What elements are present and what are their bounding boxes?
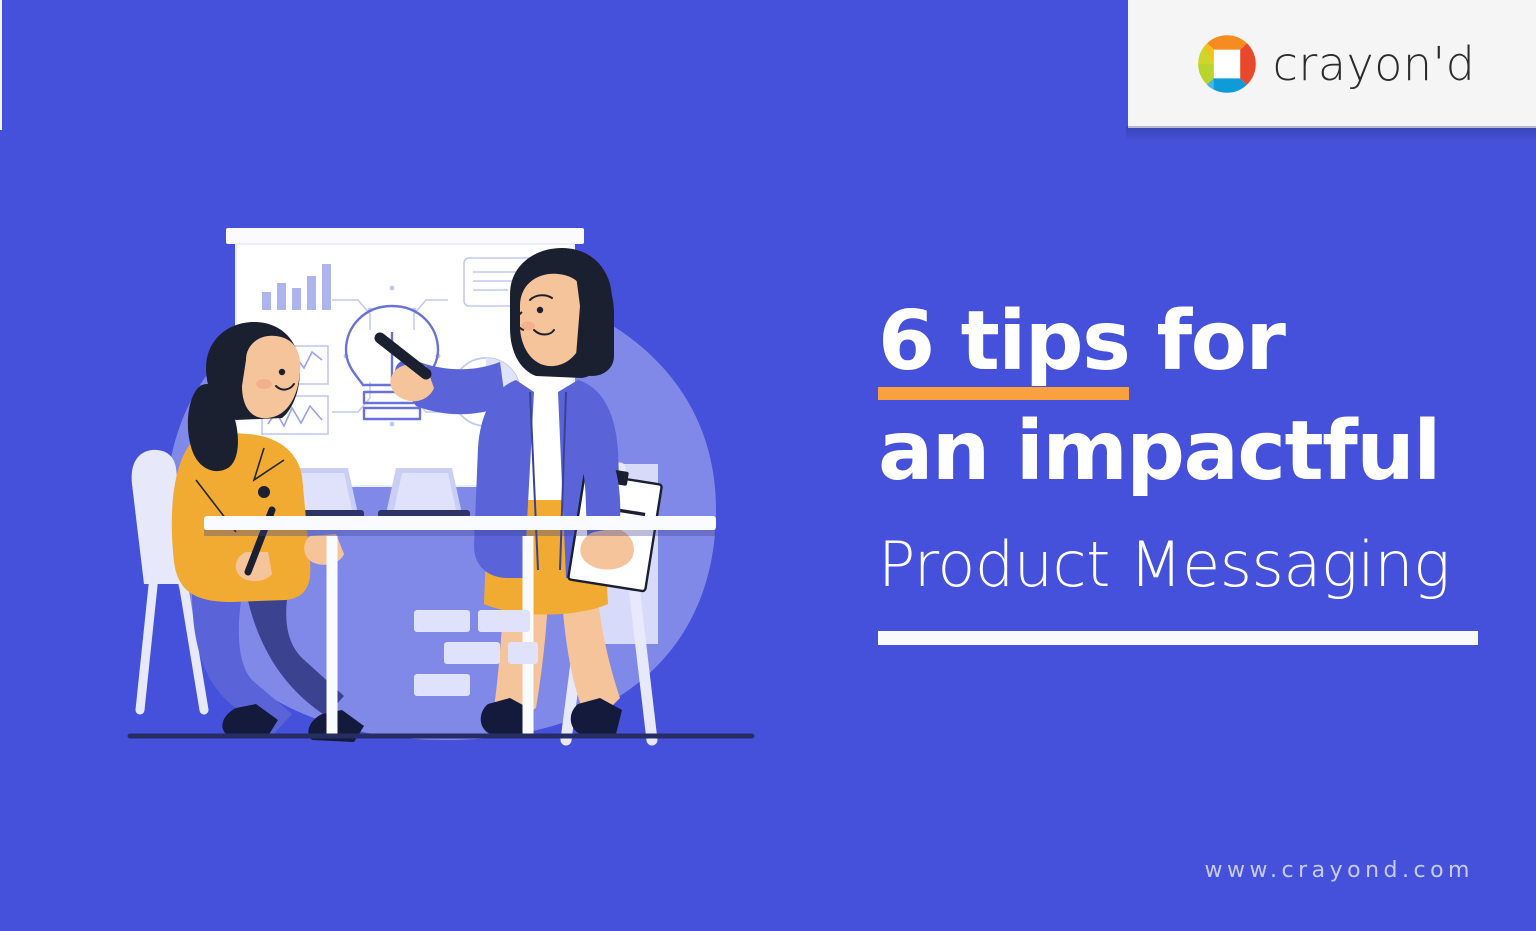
website-url[interactable]: www.crayond.com [1205,858,1474,883]
headline-line-1: 6 tips for [878,300,1478,390]
headline-divider [878,631,1478,645]
headline-emphasis: 6 tips [878,300,1129,390]
brand-logo-panel: crayon'd [1128,0,1536,128]
crayond-logo-icon [1197,34,1257,94]
logo-lockup[interactable]: crayon'd [1197,34,1476,94]
headline-subtitle: Product Messaging [878,531,1478,599]
headline-line-2: an impactful [878,410,1478,494]
poster-canvas: { "brand": { "name": "crayon'd", "logo_i… [0,0,1536,931]
laptop-right [386,468,462,514]
hero-illustration [96,180,796,770]
brand-wordmark: crayon'd [1273,41,1476,87]
headline-line-1-rest: for [1129,294,1284,389]
headline-block: 6 tips for an impactful Product Messagin… [878,300,1478,645]
panel-corner-curve [0,0,2,130]
